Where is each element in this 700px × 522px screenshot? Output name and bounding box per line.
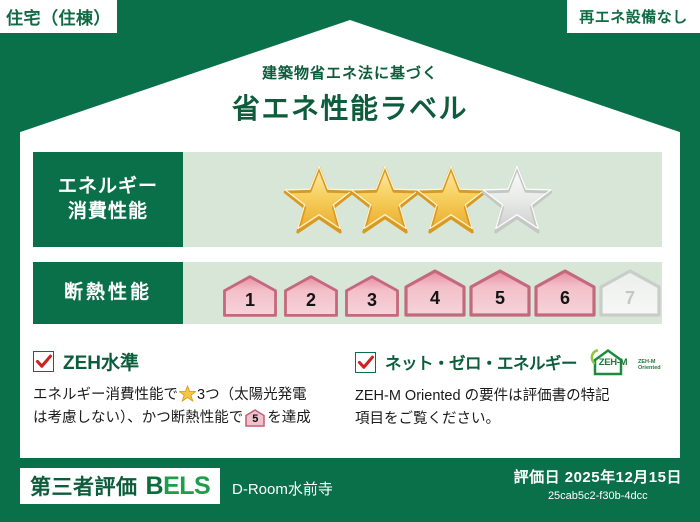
- insulation-performance-label-line1: 断熱性能: [64, 281, 152, 305]
- net-zero-energy-title: ネット・ゼロ・エネルギー: [385, 350, 577, 374]
- bels-wordmark-b: B: [146, 472, 164, 500]
- star-filled-icon: [349, 165, 421, 235]
- inline-star-icon: [179, 385, 196, 402]
- renewable-equipment-tag: 再エネ設備なし: [566, 0, 700, 34]
- zeh-standard-column: ZEH水準 エネルギー消費性能で3つ（太陽光発電 は考慮しない）、かつ断熱性能で…: [33, 348, 343, 432]
- insulation-grade-filled: 5: [468, 268, 532, 318]
- evaluation-date-label: 評価日: [514, 469, 561, 486]
- bels-wordmark-els: ELS: [163, 472, 210, 500]
- net-zero-energy-header: ネット・ゼロ・エネルギー ZEH-M ZEH-M Oriented: [355, 348, 665, 376]
- zeh-desc-part3: は考慮しない）、かつ断熱性能で: [33, 410, 243, 426]
- checkbox-checked-icon: [33, 351, 54, 372]
- zeh-desc-part1: エネルギー消費性能で: [33, 387, 178, 403]
- insulation-grade-number: 5: [468, 268, 532, 318]
- zeh-m-logo-mark: ZEH-M: [590, 348, 636, 376]
- nze-desc-line1: ZEH-M Oriented の要件は評価書の特記: [355, 388, 610, 404]
- insulation-grade-number: 2: [281, 274, 341, 318]
- insulation-grade-filled: 1: [220, 274, 280, 318]
- project-name: D-Room水前寺: [232, 478, 333, 499]
- evaluation-date-value: 2025年12月15日: [565, 469, 682, 486]
- star-empty-icon: [481, 165, 553, 235]
- zeh-desc-part4: を達成: [267, 410, 311, 426]
- zeh-m-logo-caption-line2: Oriented: [638, 366, 661, 372]
- renewable-equipment-tag-label: 再エネ設備なし: [579, 6, 688, 27]
- building-type-tag-label: 住宅（住棟）: [6, 4, 111, 29]
- zeh-standard-header: ZEH水準: [33, 348, 343, 375]
- evaluation-date-line: 評価日 2025年12月15日: [514, 466, 682, 487]
- energy-performance-label-line2: 消費性能: [68, 200, 148, 224]
- net-zero-energy-description: ZEH-M Oriented の要件は評価書の特記 項目をご覧ください。: [355, 385, 665, 432]
- label-subtitle: 建築物省エネ法に基づく: [0, 62, 700, 83]
- footer-bar: 第三者評価 BELS D-Room水前寺 評価日 2025年12月15日 25c…: [0, 458, 700, 522]
- insulation-grade-number: 4: [403, 268, 467, 318]
- checkbox-checked-icon: [355, 352, 376, 373]
- insulation-grade-scale: 1234567: [220, 268, 662, 318]
- insulation-grade-number: 1: [220, 274, 280, 318]
- star-filled-icon: [415, 165, 487, 235]
- insulation-grade-number: 6: [533, 268, 597, 318]
- insulation-grade-filled: 6: [533, 268, 597, 318]
- insulation-grade-number: 7: [598, 268, 662, 318]
- zeh-standard-title: ZEH水準: [63, 348, 139, 375]
- insulation-grade-filled: 2: [281, 274, 341, 318]
- insulation-performance-label: 断熱性能: [33, 262, 183, 324]
- zeh-standard-description: エネルギー消費性能で3つ（太陽光発電 は考慮しない）、かつ断熱性能で5を達成: [33, 384, 343, 431]
- evaluation-id: 25cab5c2-f30b-4dcc: [514, 490, 682, 502]
- zeh-m-logo: ZEH-M ZEH-M Oriented: [590, 348, 661, 376]
- star-filled-icon: [283, 165, 355, 235]
- insulation-grade-filled: 3: [342, 274, 402, 318]
- bels-wordmark: BELS: [146, 472, 211, 501]
- building-type-tag: 住宅（住棟）: [0, 0, 118, 34]
- third-party-eval-label: 第三者評価: [30, 471, 138, 501]
- energy-performance-body: [183, 152, 662, 247]
- insulation-grade-empty: 7: [598, 268, 662, 318]
- insulation-grade-number: 3: [342, 274, 402, 318]
- energy-label-root: 住宅（住棟） 再エネ設備なし 建築物省エネ法に基づく 省エネ性能ラベル エネルギ…: [0, 0, 700, 522]
- star-rating: [283, 165, 547, 235]
- label-title-block: 建築物省エネ法に基づく 省エネ性能ラベル: [0, 62, 700, 127]
- energy-performance-label: エネルギー 消費性能: [33, 152, 183, 247]
- zeh-m-logo-text: ZEH-M: [590, 357, 636, 368]
- energy-performance-row: エネルギー 消費性能: [33, 152, 662, 247]
- label-title: 省エネ性能ラベル: [0, 87, 700, 127]
- insulation-performance-row: 断熱性能 1234567: [33, 262, 662, 324]
- zeh-desc-part2: 3つ（太陽光発電: [197, 387, 307, 403]
- evaluation-info: 評価日 2025年12月15日 25cab5c2-f30b-4dcc: [514, 466, 682, 502]
- nze-desc-line2: 項目をご覧ください。: [355, 411, 500, 427]
- bels-badge: 第三者評価 BELS: [20, 468, 220, 504]
- inline-house-badge-number: 5: [245, 409, 265, 427]
- net-zero-energy-column: ネット・ゼロ・エネルギー ZEH-M ZEH-M Oriented: [355, 348, 665, 432]
- criteria-columns: ZEH水準 エネルギー消費性能で3つ（太陽光発電 は考慮しない）、かつ断熱性能で…: [33, 348, 667, 432]
- inline-house-badge: 5: [245, 409, 265, 427]
- energy-performance-label-line1: エネルギー: [58, 175, 158, 199]
- insulation-performance-body: 1234567: [183, 262, 662, 324]
- insulation-grade-filled: 4: [403, 268, 467, 318]
- zeh-m-logo-caption: ZEH-M Oriented: [638, 360, 661, 376]
